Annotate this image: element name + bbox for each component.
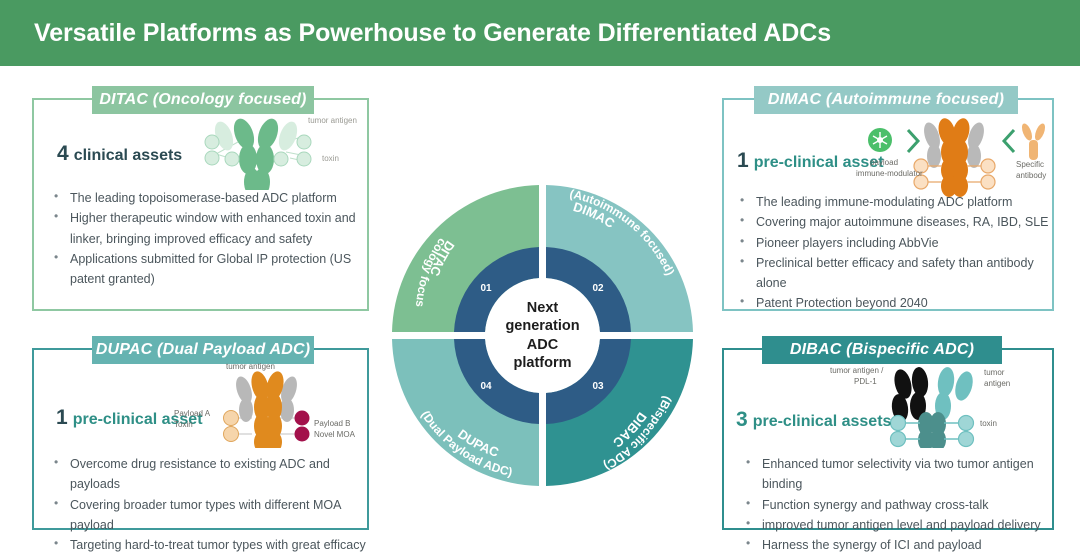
dibac-molecule-illustration: tumor antigen / PDL-1 tumor antigen toxi… [828, 366, 1044, 448]
page-title: Versatile Platforms as Powerhouse to Gen… [34, 19, 831, 48]
list-item: Harness the synergy of ICI and payload [740, 535, 1050, 555]
platform-wheel-diagram: 01 02 03 04 DITAC (Oncology focused) DIM… [390, 183, 695, 488]
panel-dibac: DIBAC (Bispecific ADC) [722, 348, 1054, 530]
wheel-center-text: Next generation ADC platform [483, 298, 603, 372]
dimac-label-antibody-2: antibody [1016, 171, 1046, 181]
panel-dimac: DIMAC (Autoimmune focused) 1pre-clinical… [722, 98, 1054, 311]
list-item: Applications submitted for Global IP pro… [48, 249, 364, 290]
ditac-molecule-illustration: tumor antigen toxin [186, 112, 364, 190]
panel-dibac-title: DIBAC (Bispecific ADC) [762, 336, 1002, 364]
list-item: Covering broader tumor types with differ… [48, 495, 370, 536]
ditac-assets-label: clinical assets [74, 147, 183, 164]
list-item: Enhanced tumor selectivity via two tumor… [740, 454, 1050, 495]
dibac-bullet-list: Enhanced tumor selectivity via two tumor… [740, 454, 1050, 555]
wheel-number-04: 04 [480, 381, 492, 392]
ditac-assets: 4clinical assets [57, 142, 182, 166]
dibac-assets: 3pre-clinical assets [736, 408, 891, 432]
list-item: Higher therapeutic window with enhanced … [48, 208, 364, 249]
list-item: The leading topoisomerase-based ADC plat… [48, 188, 364, 208]
dimac-molecule-illustration: payload immune-modulator Specific antibo… [864, 118, 1054, 202]
ditac-label-toxin: toxin [322, 154, 339, 164]
dibac-label-left-1: tumor antigen / [830, 366, 883, 376]
ditac-bullet-list: The leading topoisomerase-based ADC plat… [48, 188, 364, 289]
dimac-label-payload-2: immune-modulator [856, 169, 923, 179]
list-item: Overcome drug resistance to existing ADC… [48, 454, 370, 495]
list-item: Pioneer players including AbbVie [734, 233, 1052, 253]
list-item: Function synergy and pathway cross-talk [740, 495, 1050, 515]
wheel-center-line-1: Next [483, 298, 603, 317]
slide-root: { "header": { "title": "Versatile Platfo… [0, 0, 1080, 557]
list-item: Targeting hard-to-treat tumor types with… [48, 535, 370, 555]
dibac-label-left-2: PDL-1 [854, 377, 877, 387]
dupac-bullet-list: Overcome drug resistance to existing ADC… [48, 454, 370, 555]
dibac-label-right-2: antigen [984, 379, 1010, 389]
list-item: The leading immune-modulating ADC platfo… [734, 192, 1052, 212]
panel-dupac: DUPAC (Dual Payload ADC) 1pre-clinical a… [32, 348, 369, 530]
list-item: Covering major autoimmune diseases, RA, … [734, 212, 1052, 232]
dupac-label-tumor-antigen: tumor antigen [226, 362, 275, 372]
dupac-label-payload-a-1: Payload A [174, 409, 210, 419]
dimac-bullet-list: The leading immune-modulating ADC platfo… [734, 192, 1052, 314]
list-item: Patent Protection beyond 2040 [734, 293, 1052, 313]
slide-header: Versatile Platforms as Powerhouse to Gen… [0, 0, 1080, 66]
dimac-label-antibody-1: Specific [1016, 160, 1044, 170]
ditac-label-tumor-antigen: tumor antigen [308, 116, 357, 126]
dimac-label-payload-1: payload [870, 158, 898, 168]
wheel-number-03: 03 [592, 381, 604, 392]
wheel-center-line-2: generation [483, 317, 603, 336]
wheel-number-02: 02 [592, 283, 604, 294]
dibac-assets-label: pre-clinical assets [753, 413, 892, 430]
panel-dimac-title: DIMAC (Autoimmune focused) [754, 86, 1018, 114]
dupac-label-payload-a-2: Toxin [174, 420, 193, 430]
dibac-label-toxin: toxin [980, 419, 997, 429]
panel-ditac-title: DITAC (Oncology focused) [92, 86, 314, 114]
list-item: Preclinical better efficacy and safety t… [734, 253, 1052, 294]
dupac-assets-number: 1 [56, 406, 68, 429]
wheel-center-line-3: ADC [483, 336, 603, 355]
dupac-label-payload-b-1: Payload B [314, 419, 350, 429]
wheel-center-line-4: platform [483, 354, 603, 373]
dimac-assets-number: 1 [737, 149, 749, 172]
dupac-molecule-illustration: tumor antigen Payload A Toxin Payload B … [174, 368, 366, 448]
panel-dupac-title: DUPAC (Dual Payload ADC) [92, 336, 314, 364]
panel-ditac: DITAC (Oncology focused) 4clinical asset… [32, 98, 369, 311]
dibac-assets-number: 3 [736, 408, 748, 431]
dupac-label-payload-b-2: Novel MOA [314, 430, 355, 440]
list-item: improved tumor antigen level and payload… [740, 515, 1050, 535]
dibac-label-right-1: tumor [984, 368, 1004, 378]
wheel-number-01: 01 [480, 283, 492, 294]
ditac-assets-number: 4 [57, 142, 69, 165]
